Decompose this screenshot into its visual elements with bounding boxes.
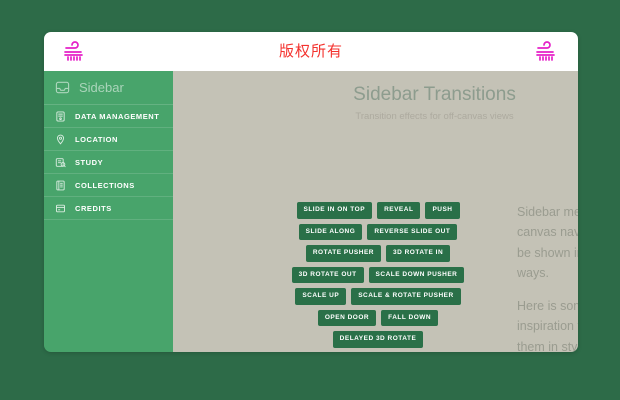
transition-button-delayed-3d-rotate[interactable]: DELAYED 3D ROTATE (333, 331, 424, 348)
book-search-icon (55, 157, 66, 168)
transition-button-fall-down[interactable]: FALL DOWN (381, 310, 438, 327)
button-row: OPEN DOOR FALL DOWN (283, 310, 473, 327)
sidebar-item-collections[interactable]: COLLECTIONS (44, 174, 173, 197)
description-paragraph: Sidebar menus or off-canvas navigations … (517, 202, 578, 283)
button-row: ROTATE PUSHER 3D ROTATE IN (283, 245, 473, 262)
page-title: 版权所有 (44, 32, 578, 71)
button-row: SCALE UP SCALE & ROTATE PUSHER (283, 288, 473, 305)
app-body: Sidebar DATA MANAGEMENT (44, 71, 578, 352)
wind-cloud-icon (534, 41, 560, 63)
description-column: Sidebar menus or off-canvas navigations … (517, 202, 578, 352)
transition-button-grid: SLIDE IN ON TOP REVEAL PUSH SLIDE ALONG … (283, 202, 473, 352)
sidebar-item-label: LOCATION (75, 135, 118, 144)
inbox-tray-icon (55, 80, 70, 95)
sidebar-item-credits[interactable]: CREDITS (44, 197, 173, 220)
app-window: 版权所有 (44, 32, 578, 352)
map-pin-icon (55, 134, 66, 145)
card-icon (55, 203, 66, 214)
transition-button-reverse-slide-out[interactable]: REVERSE SLIDE OUT (367, 224, 457, 241)
transition-button-3d-rotate-in[interactable]: 3D ROTATE IN (386, 245, 450, 262)
sidebar-title: Sidebar (79, 80, 124, 95)
sidebar-item-label: COLLECTIONS (75, 181, 135, 190)
transition-button-slide-in-on-top[interactable]: SLIDE IN ON TOP (297, 202, 373, 219)
transition-button-slide-along[interactable]: SLIDE ALONG (299, 224, 363, 241)
transition-button-open-door[interactable]: OPEN DOOR (318, 310, 376, 327)
sidebar-item-label: DATA MANAGEMENT (75, 112, 159, 121)
content-subheading: Transition effects for off-canvas views (173, 111, 578, 122)
transition-button-scale-up[interactable]: SCALE UP (295, 288, 346, 305)
button-row: SLIDE IN ON TOP REVEAL PUSH (283, 202, 473, 219)
sidebar-item-label: STUDY (75, 158, 103, 167)
content-panel: Sidebar Transitions Transition effects f… (173, 71, 578, 352)
sidebar-item-study[interactable]: STUDY (44, 151, 173, 174)
sidebar-header: Sidebar (44, 71, 173, 105)
sidebar-item-location[interactable]: LOCATION (44, 128, 173, 151)
transition-button-3d-rotate-out[interactable]: 3D ROTATE OUT (292, 267, 364, 284)
transition-button-scale-and-rotate-pusher[interactable]: SCALE & ROTATE PUSHER (351, 288, 461, 305)
sidebar-item-data-management[interactable]: DATA MANAGEMENT (44, 105, 173, 128)
transition-button-push[interactable]: PUSH (425, 202, 459, 219)
transition-button-scale-down-pusher[interactable]: SCALE DOWN PUSHER (369, 267, 465, 284)
button-row: SLIDE ALONG REVERSE SLIDE OUT (283, 224, 473, 241)
database-icon (55, 111, 66, 122)
transition-button-rotate-pusher[interactable]: ROTATE PUSHER (306, 245, 381, 262)
sidebar-item-label: CREDITS (75, 204, 112, 213)
top-bar: 版权所有 (44, 32, 578, 71)
sidebar: Sidebar DATA MANAGEMENT (44, 71, 173, 352)
button-row: 3D ROTATE OUT SCALE DOWN PUSHER (283, 267, 473, 284)
description-paragraph: Here is some inspiration for showing the… (517, 296, 578, 352)
list-book-icon (55, 180, 66, 191)
content-heading: Sidebar Transitions (173, 84, 578, 106)
transition-button-reveal[interactable]: REVEAL (377, 202, 420, 219)
button-row: DELAYED 3D ROTATE (283, 331, 473, 348)
